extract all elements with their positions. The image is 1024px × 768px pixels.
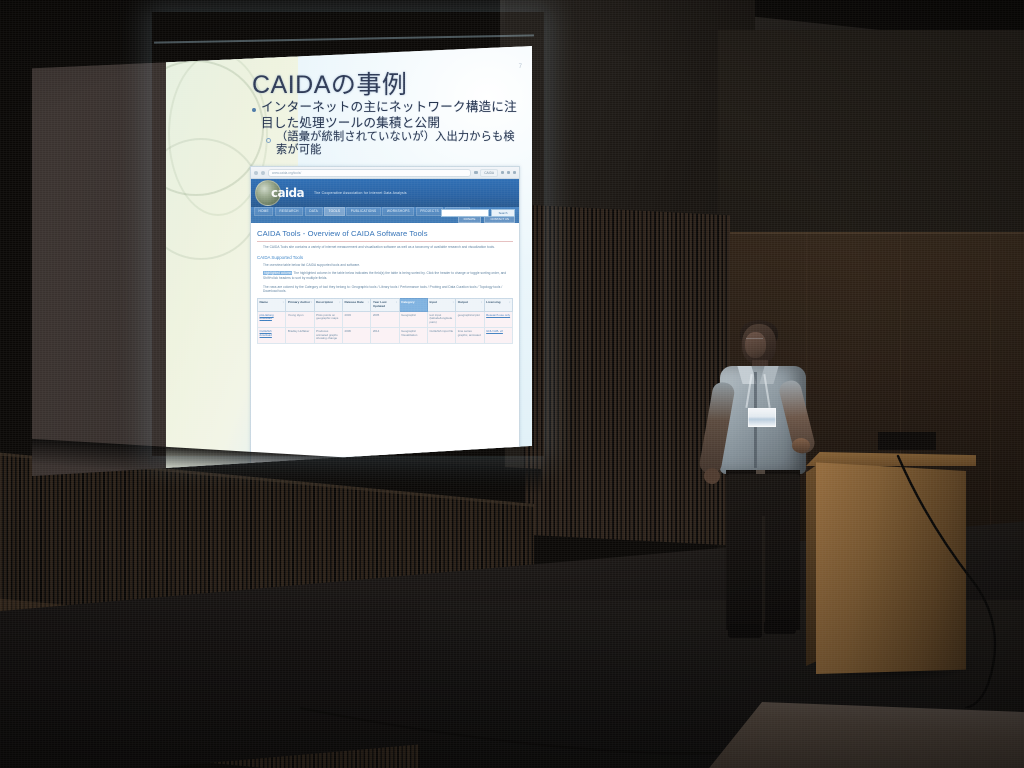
slide-bullet-1-text: インターネットの主にネットワーク構造に注目した処理ツールの集積と公開 (261, 100, 522, 131)
column-primary-author[interactable]: ↕ Primary Author (286, 298, 314, 311)
donate-button[interactable]: DONATE (458, 216, 482, 223)
page-heading: CAIDA Tools - Overview of CAIDA Software… (257, 229, 513, 238)
paragraph-2: highlighted column The highlighted colum… (263, 271, 513, 280)
nav-item-tools[interactable]: TOOLS (324, 207, 345, 216)
search-icon (501, 171, 505, 175)
forward-icon (261, 171, 265, 175)
shoe-right (764, 620, 796, 634)
site-tagline: The Cooperative Association for Internet… (314, 191, 407, 195)
nav-item-publications[interactable]: PUBLICATIONS (346, 207, 381, 216)
highlighted-column-link[interactable]: highlighted column (263, 271, 292, 275)
slide-title: CAIDAの事例 (252, 72, 522, 98)
column-description[interactable]: ↕ Description (314, 298, 342, 311)
cell-licensing: GNU GPL v2 (484, 327, 512, 343)
nav-item-data[interactable]: DATA (305, 207, 323, 216)
cell-year-updated: 2005 (371, 311, 399, 327)
presentation-room-photo: CAIDAの事例 インターネットの主にネットワーク構造に注目した処理ツールの集積… (0, 0, 1024, 768)
cell-licensing: Research use only (484, 311, 512, 327)
nav-item-research[interactable]: RESEARCH (275, 207, 303, 216)
paragraph-2-text: The highlighted column in the table belo… (263, 271, 506, 280)
cell-year-updated: 2014 (371, 327, 399, 343)
shoe-left (728, 624, 762, 638)
table-header-row: ↕ Name ↕ Primary Author ↕ (258, 298, 513, 311)
site-navigation: HOME RESEARCH DATA TOOLS PUBLICATIONS WO… (251, 207, 519, 216)
leg-separation (762, 516, 765, 630)
name-badge (748, 408, 776, 427)
section-heading: CAIDA Supported Tools (257, 255, 513, 260)
face (745, 332, 766, 358)
slide-number: 7 (519, 64, 522, 70)
cell-author: Bradley Huffaker (286, 327, 314, 343)
paragraph-1: The overview table below list CAIDA supp… (263, 263, 513, 268)
slide-bullet-2: （語彙が統制されていないが）入出力からも検索が可能 (252, 131, 522, 158)
column-year-last-updated[interactable]: ↕ Year Last Updated (371, 298, 399, 311)
column-release-date[interactable]: ↕ Release Date (342, 298, 370, 311)
nav-item-workshops[interactable]: WORKSHOPS (382, 207, 414, 216)
reload-icon (474, 171, 478, 175)
cell-input: Cuttlefish input file (427, 327, 455, 343)
podium-front-panel (816, 458, 966, 674)
nav-item-home[interactable]: HOME (254, 207, 273, 216)
table-row: plot-latlong download Young Hyun Plots p… (258, 311, 513, 327)
column-input[interactable]: ↕ Input (427, 298, 455, 311)
tools-table: ↕ Name ↕ Primary Author ↕ (257, 298, 513, 344)
slide-bullet-2-text: （語彙が統制されていないが）入出力からも検索が可能 (276, 131, 522, 158)
cell-output: geographical plot (456, 311, 484, 327)
screen-surface: CAIDAの事例 インターネットの主にネットワーク構造に注目した処理ツールの集積… (32, 46, 532, 476)
paragraph-3: The rows are colored by the Category of … (263, 285, 513, 294)
browser-tab: CAIDA (480, 169, 498, 177)
cell-name: plot-latlong download (258, 311, 286, 327)
projection-screen: CAIDAの事例 インターネットの主にネットワーク構造に注目した処理ツールの集積… (24, 18, 544, 468)
slide-bullet-1: インターネットの主にネットワーク構造に注目した処理ツールの集積と公開 (252, 100, 522, 131)
nav-item-projects[interactable]: PROJECTS (416, 207, 444, 216)
menu-icon (513, 171, 517, 175)
hand-right (792, 438, 810, 453)
cell-output: time series graphic, animated (456, 327, 484, 343)
screen-top-edge (154, 34, 534, 43)
back-icon (254, 171, 258, 175)
site-search-button[interactable]: Search (491, 209, 515, 217)
bullet-circle-icon (266, 138, 271, 143)
cell-author: Young Hyun (286, 311, 314, 327)
caida-wordmark: caida (271, 186, 304, 200)
browser-chrome: www.caida.org/tools/ CAIDA (251, 167, 519, 179)
intro-paragraph: The CAIDA Tools site contains a variety … (263, 245, 513, 250)
page-body: CAIDA Tools - Overview of CAIDA Software… (251, 223, 519, 344)
download-icon (507, 171, 511, 175)
cell-input: text input (latitude/longitude pairs) (427, 311, 455, 327)
cell-release-date: 2003 (342, 311, 370, 327)
projected-slide: CAIDAの事例 インターネットの主にネットワーク構造に注目した処理ツールの集積… (166, 46, 532, 476)
site-utility-bar: DONATE CONTACT US (251, 216, 519, 223)
column-licensing[interactable]: ↕ Licensing (484, 298, 512, 311)
embedded-browser-screenshot: www.caida.org/tools/ CAIDA caida The Coo (250, 166, 520, 468)
hand-left (704, 468, 720, 484)
cell-release-date: 2006 (342, 327, 370, 343)
column-name[interactable]: ↕ Name (258, 298, 286, 311)
glasses-icon (746, 338, 763, 343)
wall-plate (878, 432, 936, 450)
divider (257, 241, 513, 242)
cell-category: Geographic Visualization (399, 327, 427, 343)
podium (806, 452, 976, 680)
site-header: caida The Cooperative Association for In… (251, 179, 519, 207)
table-row: Cuttlefish download Bradley Huffaker Pro… (258, 327, 513, 343)
cell-name: Cuttlefish download (258, 327, 286, 343)
cell-category: Geographic (399, 311, 427, 327)
column-category[interactable]: ↕ Category (399, 298, 427, 311)
bullet-dot-icon (252, 108, 256, 112)
cell-description: Plots points on geographic maps (314, 311, 342, 327)
contact-us-button[interactable]: CONTACT US (484, 216, 515, 223)
site-search-input[interactable] (441, 209, 489, 217)
column-output[interactable]: ↕ Output (456, 298, 484, 311)
cell-description: Produces animated graphs showing change (314, 327, 342, 343)
address-bar: www.caida.org/tools/ (268, 169, 471, 177)
